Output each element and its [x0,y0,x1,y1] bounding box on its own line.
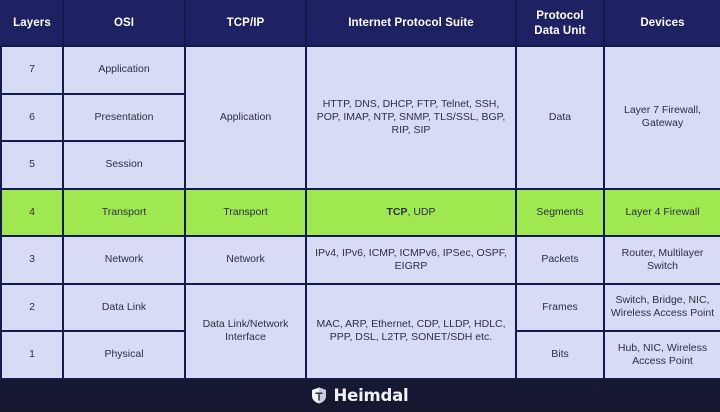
column-header-osi: OSI [63,1,185,46]
cell-tcpip-data-link-network-interface: Data Link/Network Interface [185,284,306,379]
cell-layer-number: 3 [1,236,63,284]
column-header-devices: Devices [604,1,720,46]
cell-devices-data-link: Switch, Bridge, NIC, Wireless Access Poi… [604,284,720,332]
column-header-protocol-data-unit: Protocol Data Unit [516,1,604,46]
cell-layer-number: 5 [1,141,63,189]
footer-brand: Heimdal [0,378,720,412]
pdu-header-line-1: Protocol [536,10,583,22]
cell-tcpip-network: Network [185,236,306,284]
heimdal-wordmark: Heimdal [333,386,408,405]
cell-osi-layer: Presentation [63,94,185,142]
cell-osi-layer: Session [63,141,185,189]
cell-pdu-data: Data [516,46,604,189]
cell-layer-number: 4 [1,189,63,237]
heimdal-shield-icon [311,387,327,404]
column-header-tcpip: TCP/IP [185,1,306,46]
cell-pdu-packets: Packets [516,236,604,284]
osi-tcpip-model-table: Layers OSI TCP/IP Internet Protocol Suit… [0,0,720,380]
column-header-internet-protocol-suite: Internet Protocol Suite [306,1,516,46]
infographic-root: Layers OSI TCP/IP Internet Protocol Suit… [0,0,720,412]
pdu-header-line-2: Data Unit [534,25,585,37]
cell-protocols-data-link: MAC, ARP, Ethernet, CDP, LLDP, HDLC, PPP… [306,284,516,379]
cell-osi-layer: Transport [63,189,185,237]
cell-pdu-frames: Frames [516,284,604,332]
cell-pdu-bits: Bits [516,331,604,379]
cell-devices-network: Router, Multilayer Switch [604,236,720,284]
table-row-layer-4-transport-highlighted: 4 Transport Transport TCP, UDP Segments … [1,189,720,237]
table-row-layer-3: 3 Network Network IPv4, IPv6, ICMP, ICMP… [1,236,720,284]
cell-osi-layer: Application [63,46,185,94]
table-body: 7 Application Application HTTP, DNS, DHC… [1,46,720,379]
protocol-transport-rest: , UDP [407,206,435,218]
cell-tcpip-transport: Transport [185,189,306,237]
cell-layer-number: 2 [1,284,63,332]
cell-layer-number: 7 [1,46,63,94]
cell-osi-layer: Physical [63,331,185,379]
cell-protocols-application: HTTP, DNS, DHCP, FTP, Telnet, SSH, POP, … [306,46,516,189]
cell-devices-application: Layer 7 Firewall, Gateway [604,46,720,189]
column-header-layers: Layers [1,1,63,46]
cell-tcpip-application: Application [185,46,306,189]
cell-protocols-network: IPv4, IPv6, ICMP, ICMPv6, IPSec, OSPF, E… [306,236,516,284]
cell-osi-layer: Data Link [63,284,185,332]
table-row-layer-7: 7 Application Application HTTP, DNS, DHC… [1,46,720,94]
table-header: Layers OSI TCP/IP Internet Protocol Suit… [1,1,720,46]
cell-devices-transport: Layer 4 Firewall [604,189,720,237]
cell-layer-number: 1 [1,331,63,379]
protocol-tcp-emphasis: TCP [386,206,407,218]
cell-devices-physical: Hub, NIC, Wireless Access Point [604,331,720,379]
table-row-layer-2: 2 Data Link Data Link/Network Interface … [1,284,720,332]
cell-protocols-transport: TCP, UDP [306,189,516,237]
cell-pdu-segments: Segments [516,189,604,237]
cell-osi-layer: Network [63,236,185,284]
header-row: Layers OSI TCP/IP Internet Protocol Suit… [1,1,720,46]
cell-layer-number: 6 [1,94,63,142]
